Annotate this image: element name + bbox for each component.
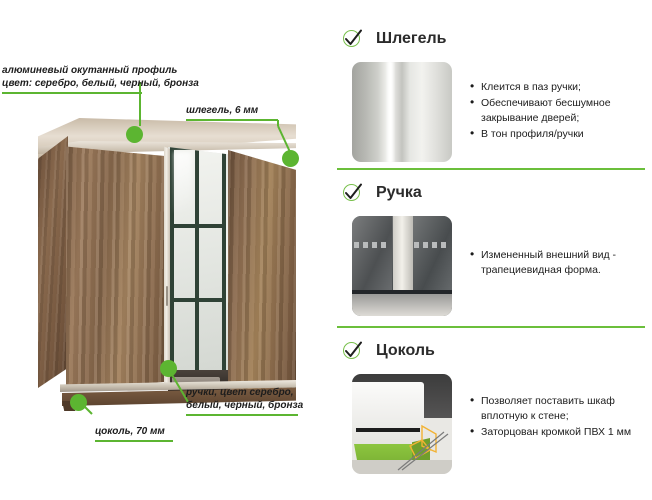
annotation-handles-underline: [186, 414, 298, 416]
marker-dot-shlegel: [282, 150, 299, 167]
annotation-handles: ручки, цвет серебро, белый, черный, брон…: [186, 386, 303, 416]
marker-dot-plinth: [70, 394, 87, 411]
annotation-plinth-line1: цоколь, 70 мм: [95, 425, 173, 438]
bullet-item: Позволяет поставить шкаф вплотную к стен…: [470, 394, 652, 424]
shlegel-photo: [352, 62, 452, 162]
annotation-profile-line1: алюминевый окутанный профиль: [2, 64, 199, 77]
feature-bullet-list: Позволяет поставить шкаф вплотную к стен…: [470, 394, 652, 441]
annotation-profile-underline: [2, 92, 142, 94]
feature-bullet-list: Измененный внешний вид - трапециевидная …: [470, 248, 652, 279]
feature-title: Цоколь: [376, 342, 435, 360]
feature-header: Ручка: [342, 182, 422, 204]
check-circle-icon: [342, 340, 364, 362]
feature-header: Шлегель: [342, 28, 447, 50]
feature-bullet-list: Клеится в паз ручки; Обеспечивают бесшум…: [470, 80, 652, 143]
marker-dot-profile: [126, 126, 143, 143]
annotation-shlegel-underline: [186, 119, 278, 121]
feature-title: Шлегель: [376, 30, 447, 48]
feature-title: Ручка: [376, 184, 422, 202]
feature-card-shlegel: Шлегель Клеится в паз ручки; Обеспечиваю…: [330, 22, 652, 168]
feature-card-plinth: Цоколь Позволяет поставить шкаф вплотную…: [330, 334, 652, 484]
annotation-handles-line2: белый, черный, бронза: [186, 399, 303, 412]
section-divider-1: [337, 168, 645, 170]
plinth-callout-overlay: [352, 374, 452, 474]
feature-header: Цоколь: [342, 340, 435, 362]
infographic-canvas: алюминевый окутанный профиль цвет: сереб…: [0, 0, 652, 500]
bullet-item: Измененный внешний вид - трапециевидная …: [470, 248, 652, 278]
annotation-handles-line1: ручки, цвет серебро,: [186, 386, 303, 399]
wardrobe-illustration-panel: алюминевый окутанный профиль цвет: сереб…: [0, 0, 330, 500]
plinth-photo: [352, 374, 452, 474]
annotation-plinth: цоколь, 70 мм: [95, 425, 173, 442]
bullet-item: Клеится в паз ручки;: [470, 80, 652, 95]
marker-dot-handles: [160, 360, 177, 377]
annotation-plinth-underline: [95, 440, 173, 442]
feature-cards-panel: Шлегель Клеится в паз ручки; Обеспечиваю…: [330, 0, 652, 500]
bullet-item: В тон профиля/ручки: [470, 127, 652, 142]
annotation-profile-line2: цвет: серебро, белый, черный, бронза: [2, 77, 199, 90]
section-divider-2: [337, 326, 645, 328]
annotation-shlegel-line1: шлегель, 6 мм: [186, 104, 278, 117]
annotation-shlegel: шлегель, 6 мм: [186, 104, 278, 121]
handle-photo: [352, 216, 452, 316]
bullet-item: Обеспечивают бесшумное закрывание дверей…: [470, 96, 652, 126]
bullet-item: Заторцован кромкой ПВХ 1 мм: [470, 425, 652, 440]
annotation-profile: алюминевый окутанный профиль цвет: сереб…: [2, 64, 199, 94]
check-circle-icon: [342, 182, 364, 204]
feature-card-handle: Ручка Измененный внешний вид - трапециев…: [330, 176, 652, 326]
check-circle-icon: [342, 28, 364, 50]
